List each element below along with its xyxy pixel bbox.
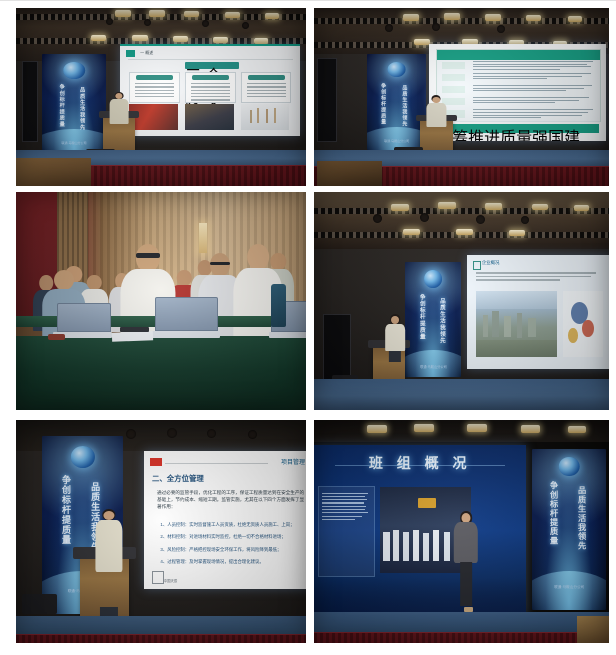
banner-footer: 联通·马鞍山分公司 xyxy=(532,585,606,590)
slide-heading: 企业概况 xyxy=(482,260,500,266)
slide-corner-title: 项目管理 xyxy=(281,457,305,466)
slide-photo xyxy=(185,104,234,130)
presentation-screen: 项目管理 二、全方位管理 通过必要的监管手段，优化工程的工序，保证工程质量达到在… xyxy=(144,451,306,589)
stage-banner: 争创标杆提质量 品质生活我领先 联通·马鞍山分公司 xyxy=(405,262,461,378)
banner-text-left: 品质生活我领先 xyxy=(401,85,408,127)
presentation-screen: 统筹推进质量强国建设，全面形成高质量发展新格局，不断满足人民群众美好生活需要。 xyxy=(429,44,606,142)
banner-footer: 联通·马鞍山分公司 xyxy=(367,139,426,143)
laptop xyxy=(155,297,216,338)
banner-text-right: 争创标杆提质量 xyxy=(418,294,426,340)
slide-card xyxy=(185,72,236,103)
top-divider xyxy=(0,0,616,1)
presentation-screen: 企业概况 xyxy=(467,255,609,368)
banner-text-right: 争创标杆提质量 xyxy=(59,84,66,127)
speaker xyxy=(423,95,450,127)
banner-text-left: 品质生活我领先 xyxy=(575,486,587,550)
banner-text-right: 争创标杆提质量 xyxy=(547,481,559,545)
speaker xyxy=(382,314,409,362)
slide-table xyxy=(436,49,601,121)
slide-heading: 一 概述 xyxy=(140,50,153,56)
slide-intro: 通过必要的监管手段，优化工程的工序，保证工程质量达到在安全生产的基础上，节约成本… xyxy=(157,489,306,510)
banner-footer: 联通·马鞍山分公司 xyxy=(405,364,461,369)
slide-item: 1、人员控制：实时监督施工人员资质，杜绝无资质人员施工、上岗； xyxy=(160,522,306,532)
photo-collage: 争创标杆提质量 品质生活我领先 联通·马鞍山分公司 一 概述 三 个 转 变 xyxy=(0,0,616,655)
slide-footer-note: 统筹推进质量强国建设，全面形成高质量发展新格局，不断满足人民群众美好生活需要。 xyxy=(436,124,599,133)
slide-photo xyxy=(476,291,557,357)
photo-tile-4[interactable]: 争创标杆提质量 品质生活我领先 联通·马鞍山分公司 企业概况 xyxy=(314,192,609,410)
slide-item: 3、风险控制：严格把控现场安全环保工作，将风险降到最低； xyxy=(160,547,306,557)
presentation-screen: 班 组 概 况 xyxy=(314,445,526,617)
photo-tile-2[interactable]: 争创标杆提质量 品质生活我领先 联通·马鞍山分公司 xyxy=(314,8,609,186)
banner-footer: 联通·马鞍山分公司 xyxy=(42,141,106,145)
stage-banner: 争创标杆提质量 品质生活我领先 联通·马鞍山分公司 xyxy=(367,54,426,150)
slide-photo xyxy=(563,291,603,357)
laptop xyxy=(57,303,109,338)
photo-tile-3[interactable] xyxy=(16,192,306,410)
slide-item: 2、材料控制：对进场材料实时监控，杜绝一切不合格材料进场； xyxy=(160,534,306,544)
banner-text-right: 争创标杆提质量 xyxy=(380,83,387,125)
slide-card xyxy=(129,72,180,103)
side-monitor xyxy=(22,61,39,141)
photo-tile-5[interactable]: 争创标杆提质量 品质生活我领先 联通·马鞍山分公司 项目管理 二、全方位管理 通… xyxy=(16,420,306,643)
stage-banner: 争创标杆提质量 品质生活我领先 联通·马鞍山分公司 xyxy=(42,54,106,152)
banner-text-left: 品质生活我领先 xyxy=(79,87,86,130)
speaker xyxy=(453,511,480,611)
slide-photo xyxy=(241,104,290,130)
banner-text-right: 争创标杆提质量 xyxy=(60,475,73,545)
slide-heading: 二、全方位管理 xyxy=(152,473,204,484)
water-bottle xyxy=(271,284,286,328)
photo-tile-1[interactable]: 争创标杆提质量 品质生活我领先 联通·马鞍山分公司 一 概述 三 个 转 变 xyxy=(16,8,306,186)
slide-card xyxy=(241,72,292,103)
speaker xyxy=(91,509,126,571)
slide-logo-text: 中国天辰 xyxy=(164,578,178,583)
stage-banner: 争创标杆提质量 品质生活我领先 联通·马鞍山分公司 xyxy=(532,449,606,610)
slide-heading: 班 组 概 况 xyxy=(314,453,526,473)
slide-section-label: 三 个 转 变 xyxy=(185,62,239,69)
photo-tile-6[interactable]: 班 组 概 况 xyxy=(314,420,609,643)
banner-text-left: 品质生活我领先 xyxy=(438,298,446,344)
presentation-screen: 一 概述 三 个 转 变 xyxy=(120,44,300,137)
slide-item: 4、过程管理：及时掌握现场情况，提出合理化建议。 xyxy=(160,559,306,569)
speaker xyxy=(106,92,132,124)
